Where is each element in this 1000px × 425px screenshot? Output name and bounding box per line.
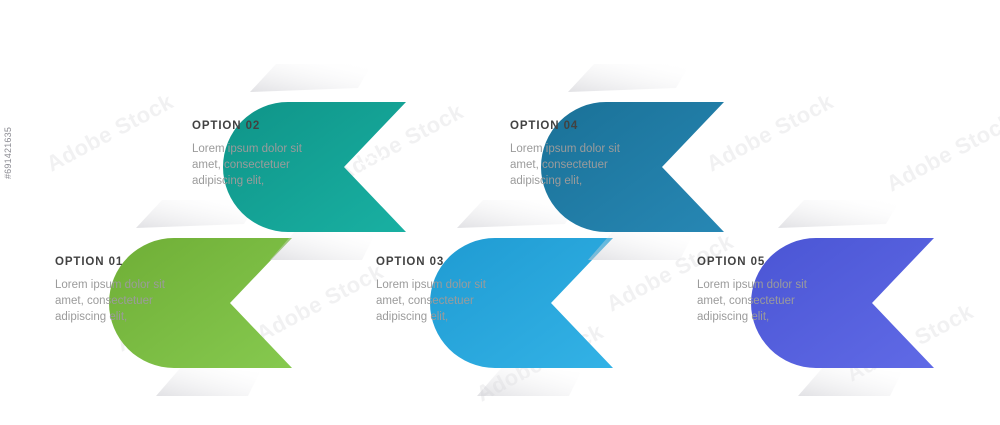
shape-shadow-bottom xyxy=(270,230,374,260)
option-description: Lorem ipsum dolor sit amet, consectetuer… xyxy=(376,277,504,325)
option-title: OPTION 05 xyxy=(697,256,825,268)
watermark-text: Adobe Stock xyxy=(42,89,178,178)
text-block-option-01: OPTION 01 Lorem ipsum dolor sit amet, co… xyxy=(55,256,183,325)
option-description: Lorem ipsum dolor sit amet, consectetuer… xyxy=(510,141,638,189)
option-title: OPTION 03 xyxy=(376,256,504,268)
stock-id-strip: #691421635 xyxy=(0,0,16,425)
shape-shadow-bottom xyxy=(588,230,692,260)
option-description: Lorem ipsum dolor sit amet, consectetuer… xyxy=(192,141,320,189)
shape-shadow-top xyxy=(250,64,372,92)
option-description: Lorem ipsum dolor sit amet, consectetuer… xyxy=(697,277,825,325)
hand-gear-icon xyxy=(561,283,601,323)
text-block-option-02: OPTION 02 Lorem ipsum dolor sit amet, co… xyxy=(192,120,320,189)
text-block-option-03: OPTION 03 Lorem ipsum dolor sit amet, co… xyxy=(376,256,504,325)
shape-shadow-bottom xyxy=(798,366,902,396)
shape-shadow-bottom xyxy=(477,366,581,396)
calendar-clock-check-icon xyxy=(672,147,712,187)
option-title: OPTION 04 xyxy=(510,120,638,132)
option-title: OPTION 01 xyxy=(55,256,183,268)
shape-shadow-top xyxy=(568,64,690,92)
target-dartboard-icon xyxy=(882,283,922,323)
watermark-text: Adobe Stock xyxy=(882,109,1000,198)
option-description: Lorem ipsum dolor sit amet, consectetuer… xyxy=(55,277,183,325)
lightbulb-icon xyxy=(354,147,394,187)
option-title: OPTION 02 xyxy=(192,120,320,132)
text-block-option-05: OPTION 05 Lorem ipsum dolor sit amet, co… xyxy=(697,256,825,325)
monitor-search-icon xyxy=(240,283,280,323)
text-block-option-04: OPTION 04 Lorem ipsum dolor sit amet, co… xyxy=(510,120,638,189)
shape-option-05 xyxy=(810,238,956,368)
stock-id-label: #691421635 xyxy=(3,93,13,213)
shape-shadow-top xyxy=(778,200,900,228)
shape-shadow-bottom xyxy=(156,366,260,396)
infographic-canvas: Adobe Stock Adobe Stock Adobe Stock Adob… xyxy=(0,0,1000,425)
